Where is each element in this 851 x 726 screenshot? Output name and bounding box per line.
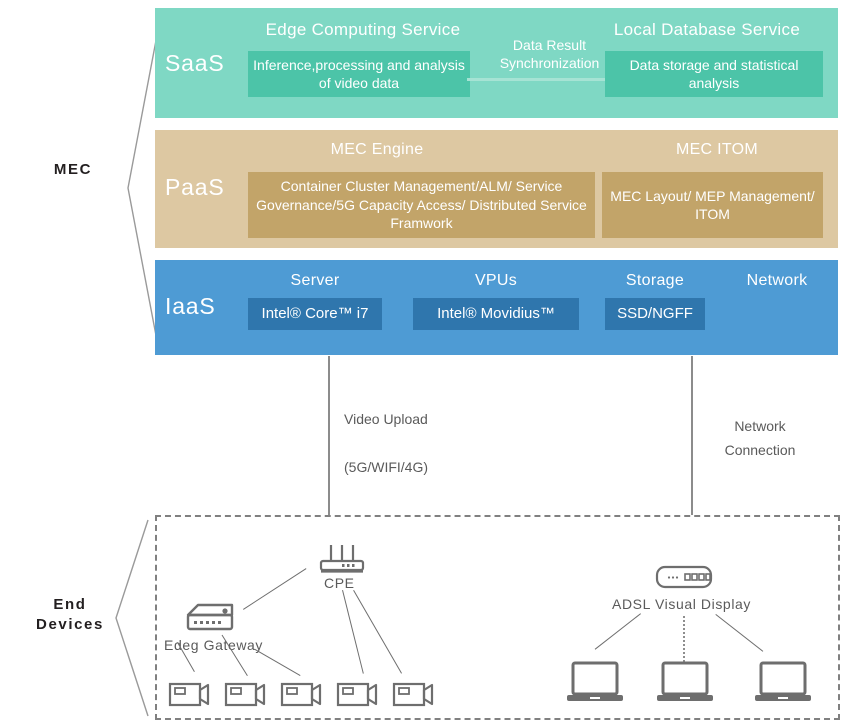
group-label-mec: MEC (18, 160, 128, 180)
camera-icon (280, 679, 324, 709)
link-adsl-laptop-2 (683, 616, 685, 662)
layer-title-saas: SaaS (165, 50, 224, 77)
laptop-icon (655, 661, 715, 705)
saas-box-edge: Inference,processing and analysis of vid… (248, 51, 470, 97)
layer-band-iaas: IaaS Server Intel® Core™ i7 VPUs Intel® … (155, 260, 838, 355)
cpe-icon (318, 543, 366, 575)
paas-col-head-engine: MEC Engine (248, 141, 506, 159)
iaas-col-head-server: Server (248, 272, 382, 290)
paas-col-head-itom: MEC ITOM (602, 141, 832, 159)
camera-icon (168, 679, 212, 709)
saas-sync-label: Data Result Synchronization (477, 37, 622, 72)
iaas-box-storage: SSD/NGFF (605, 298, 705, 330)
layer-title-paas: PaaS (165, 174, 224, 201)
saas-col-head-edge: Edge Computing Service (248, 20, 478, 40)
adsl-visual-display-label: ADSL Visual Display (612, 596, 751, 612)
saas-sync-line (467, 78, 627, 81)
layer-band-paas: PaaS MEC Engine Container Cluster Manage… (155, 130, 838, 248)
iaas-col-head-vpus: VPUs (413, 272, 579, 290)
connector-line-video-upload (328, 356, 330, 515)
iaas-box-server: Intel® Core™ i7 (248, 298, 382, 330)
adsl-visual-display-icon (655, 565, 713, 589)
group-label-end-devices: End Devices (10, 595, 130, 636)
saas-col-head-localdb: Local Database Service (592, 20, 822, 40)
camera-icon (224, 679, 268, 709)
connector-label-network: Network Connection (700, 415, 820, 463)
iaas-col-head-network: Network (722, 272, 832, 290)
camera-icon (336, 679, 380, 709)
iaas-col-head-storage: Storage (605, 272, 705, 290)
laptop-icon (753, 661, 813, 705)
edge-gateway-icon (182, 601, 238, 637)
connector-line-network (691, 356, 693, 515)
connector-label-video-upload: Video Upload (5G/WIFI/4G) (344, 408, 534, 479)
cpe-label: CPE (324, 575, 355, 591)
layer-band-saas: SaaS Edge Computing Service Inference,pr… (155, 8, 838, 118)
laptop-icon (565, 661, 625, 705)
layer-title-iaas: IaaS (165, 293, 216, 320)
paas-box-itom: MEC Layout/ MEP Management/ ITOM (602, 172, 823, 238)
camera-icon (392, 679, 436, 709)
saas-box-localdb: Data storage and statistical analysis (605, 51, 823, 97)
architecture-diagram: MEC SaaS Edge Computing Service Inferenc… (0, 0, 851, 726)
iaas-box-vpus: Intel® Movidius™ (413, 298, 579, 330)
paas-box-engine: Container Cluster Management/ALM/ Servic… (248, 172, 595, 238)
